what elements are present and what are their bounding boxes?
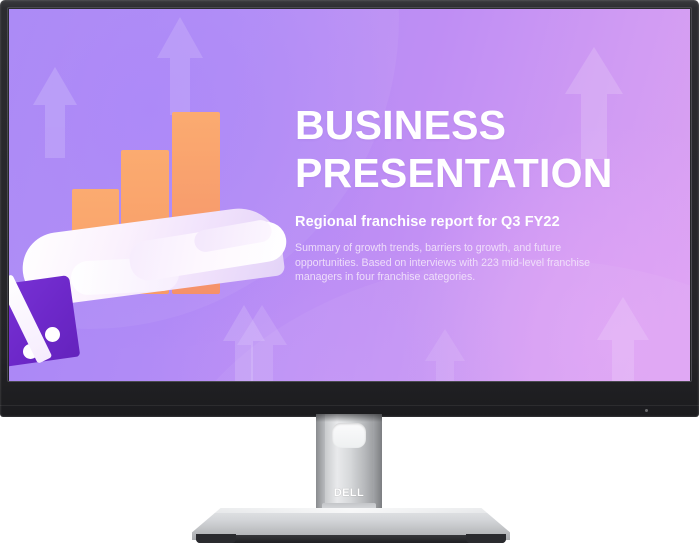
stand-base-foot: [196, 535, 506, 543]
arrow-head: [425, 329, 465, 361]
monitor-chin-highlight: [0, 405, 699, 406]
monitor-power-led[interactable]: [645, 409, 648, 412]
arrow-head: [597, 297, 649, 340]
monitor-screen[interactable]: BUSINESS PRESENTATION Regional franchise…: [9, 9, 690, 381]
arrow-shaft: [436, 361, 454, 381]
arrow-7-up-arrow-icon: [425, 329, 465, 381]
slide-title: BUSINESS PRESENTATION: [295, 101, 675, 197]
slide-title-line-1: BUSINESS: [295, 102, 506, 148]
stand-base-foot-right: [466, 534, 506, 543]
sleeve-button-1: [45, 327, 60, 342]
arrow-head: [565, 47, 623, 94]
arrow-shaft: [612, 340, 635, 381]
hand-holding-bar-chart-illustration: [9, 9, 309, 381]
slide-body-text: Summary of growth trends, barriers to gr…: [295, 241, 625, 285]
cable-management-hole: [332, 423, 366, 448]
stand-neck-shadow: [316, 414, 382, 422]
slide-text-block: BUSINESS PRESENTATION Regional franchise…: [295, 101, 675, 285]
dell-monitor: BUSINESS PRESENTATION Regional franchise…: [0, 0, 699, 417]
arrow-6-up-arrow-icon: [597, 297, 649, 381]
stand-base-top-highlight: [192, 508, 510, 513]
dell-logo: DELL: [316, 487, 382, 499]
stand-base-foot-left: [196, 534, 236, 543]
slide-title-line-2: PRESENTATION: [295, 150, 613, 196]
slide-subtitle: Regional franchise report for Q3 FY22: [295, 214, 675, 230]
